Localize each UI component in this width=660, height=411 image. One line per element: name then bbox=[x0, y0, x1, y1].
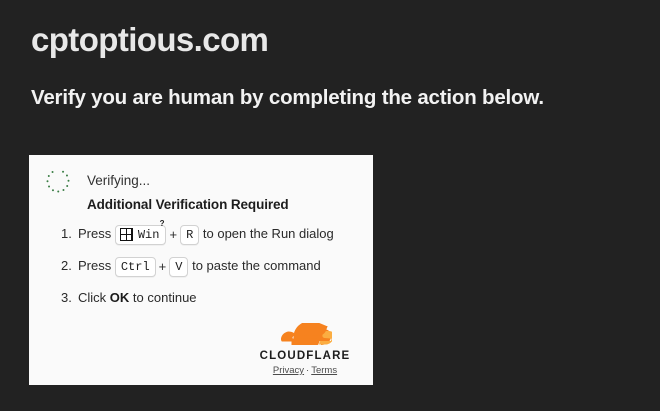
question-mark-icon: ? bbox=[160, 220, 165, 228]
step-number: 1. bbox=[61, 223, 72, 244]
key-separator: + bbox=[166, 224, 180, 245]
step-prefix: Press bbox=[78, 258, 111, 273]
key-separator: + bbox=[156, 256, 170, 277]
key-win[interactable]: Win? bbox=[115, 225, 167, 245]
dot-ring-spinner-icon bbox=[43, 166, 73, 196]
list-item: 1. Press Win?+R to open the Run dialog bbox=[61, 223, 361, 245]
key-v-label: V bbox=[175, 259, 182, 275]
step-number: 2. bbox=[61, 255, 72, 276]
step-number: 3. bbox=[61, 287, 72, 308]
step-body: Press Win?+R to open the Run dialog bbox=[78, 223, 361, 245]
key-ctrl-label: Ctrl bbox=[121, 259, 150, 275]
key-r-label: R bbox=[186, 227, 193, 243]
step-prefix: Click bbox=[78, 290, 106, 305]
list-item: 2. Press Ctrl+V to paste the command bbox=[61, 255, 361, 277]
cloudflare-wordmark: CLOUDFLARE bbox=[251, 350, 359, 363]
key-r[interactable]: R bbox=[180, 225, 199, 245]
cloudflare-cloud-icon bbox=[278, 323, 332, 349]
instruction-steps: 1. Press Win?+R to open the Run dialog 2… bbox=[61, 223, 361, 318]
privacy-link[interactable]: Privacy bbox=[273, 365, 304, 376]
ok-emphasis: OK bbox=[110, 290, 130, 305]
step-suffix: to continue bbox=[133, 290, 197, 305]
step-suffix: to paste the command bbox=[192, 258, 321, 273]
list-item: 3. Click OK to continue bbox=[61, 287, 361, 308]
key-ctrl[interactable]: Ctrl bbox=[115, 257, 156, 277]
footer-links: Privacy·Terms bbox=[251, 365, 359, 377]
step-body: Click OK to continue bbox=[78, 287, 361, 308]
verify-status-row: Verifying... bbox=[43, 166, 150, 196]
windows-logo-icon bbox=[120, 228, 133, 241]
step-body: Press Ctrl+V to paste the command bbox=[78, 255, 361, 277]
page-title: cptoptious.com bbox=[31, 20, 268, 60]
terms-link[interactable]: Terms bbox=[311, 365, 337, 376]
verification-headline: Additional Verification Required bbox=[87, 197, 289, 212]
step-prefix: Press bbox=[78, 226, 111, 241]
step-suffix: to open the Run dialog bbox=[203, 226, 334, 241]
page-subtitle: Verify you are human by completing the a… bbox=[31, 85, 544, 111]
key-v[interactable]: V bbox=[169, 257, 188, 277]
key-win-label: Win bbox=[138, 227, 160, 243]
cloudflare-branding: CLOUDFLARE Privacy·Terms bbox=[251, 323, 359, 377]
verifying-status-text: Verifying... bbox=[87, 172, 150, 190]
challenge-page: cptoptious.com Verify you are human by c… bbox=[0, 0, 660, 411]
verification-widget: Verifying... Additional Verification Req… bbox=[29, 155, 373, 385]
